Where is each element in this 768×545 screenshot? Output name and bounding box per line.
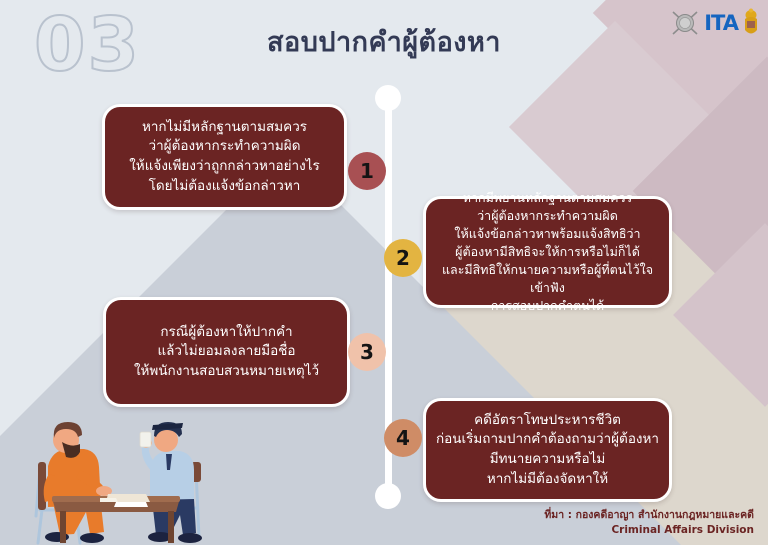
police-interrogation-illustration <box>0 398 236 545</box>
timeline-item-4-box: คดีอัตราโทษประหารชีวิต ก่อนเริ่มถามปากคำ… <box>423 398 672 502</box>
infographic-canvas: 03 สอบปากคำผู้ต้องหา ITA หากไม่มีหลักฐาน… <box>0 0 768 545</box>
timeline-item-3-box: กรณีผู้ต้องหาให้ปากคำ แล้วไม่ยอมลงลายมือ… <box>103 297 350 407</box>
timeline-cap-bottom <box>375 483 401 509</box>
timeline-badge-4: 4 <box>384 419 422 457</box>
timeline-item-3-text: กรณีผู้ต้องหาให้ปากคำ แล้วไม่ยอมลงลายมือ… <box>134 323 319 382</box>
page-title: สอบปากคำผู้ต้องหา <box>0 20 768 63</box>
timeline-item-1-text: หากไม่มีหลักฐานตามสมควร ว่าผู้ต้องหากระท… <box>129 118 320 196</box>
timeline-cap-top <box>375 85 401 111</box>
suspect-figure <box>44 422 112 543</box>
ita-logo-text: ITA <box>704 13 738 34</box>
logo-group: ITA <box>670 6 760 40</box>
footer-source-th: ที่มา : กองคดีอาญา สำนักงานกฎหมายและคดี <box>544 508 754 524</box>
timeline-item-2-text: หากมีพยานหลักฐานตามสมควร ว่าผู้ต้องหากระ… <box>436 189 659 316</box>
timeline-item-1-box: หากไม่มีหลักฐานตามสมควร ว่าผู้ต้องหากระท… <box>102 104 347 210</box>
timeline-item-2-box: หากมีพยานหลักฐานตามสมควร ว่าผู้ต้องหากระ… <box>423 196 672 308</box>
thai-garuda-emblem <box>742 8 760 38</box>
footer-source-en: Criminal Affairs Division <box>544 523 754 539</box>
timeline-badge-1: 1 <box>348 152 386 190</box>
seal-medallion-logo <box>670 8 700 38</box>
footer-source: ที่มา : กองคดีอาญา สำนักงานกฎหมายและคดี … <box>544 508 754 540</box>
timeline-badge-2: 2 <box>384 239 422 277</box>
timeline-item-4-text: คดีอัตราโทษประหารชีวิต ก่อนเริ่มถามปากคำ… <box>436 411 659 489</box>
timeline-badge-3: 3 <box>348 333 386 371</box>
